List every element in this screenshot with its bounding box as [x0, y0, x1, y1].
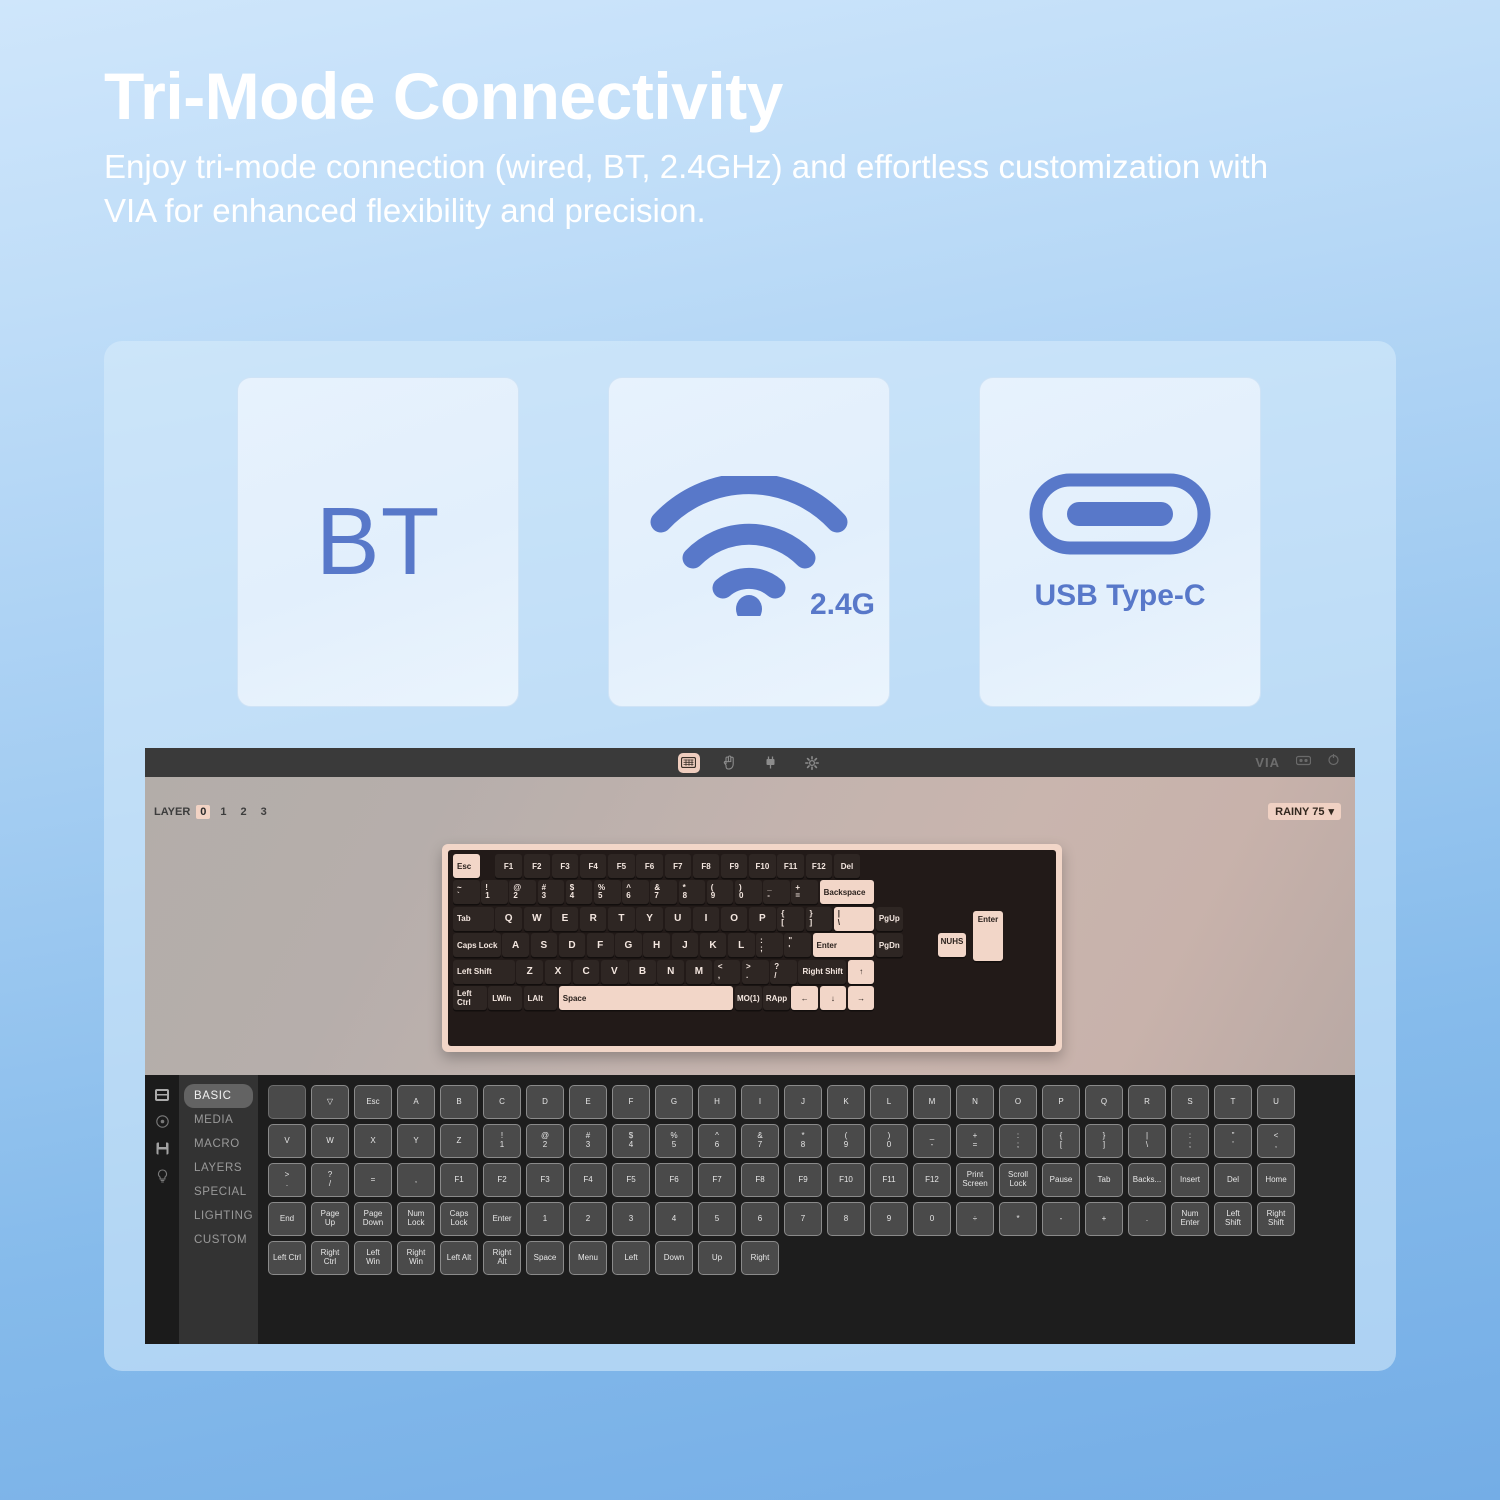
kb-key[interactable]: F12 — [806, 854, 833, 878]
key-picker-key[interactable]: A — [397, 1085, 435, 1119]
key-picker-label-bottom: Lock — [408, 1219, 425, 1228]
kb-key[interactable]: :; — [756, 933, 783, 957]
kb-key[interactable]: S — [531, 933, 558, 957]
kb-key[interactable]: MO(1) — [735, 986, 762, 1010]
key-picker-key[interactable]: O — [999, 1085, 1037, 1119]
kb-key[interactable]: PgDn — [876, 933, 903, 957]
key-picker-key[interactable]: (9 — [827, 1124, 865, 1158]
kb-key[interactable]: %5 — [594, 880, 621, 904]
kb-key[interactable]: L — [728, 933, 755, 957]
kb-key-label: ← — [801, 994, 809, 1003]
hand-icon[interactable] — [719, 753, 741, 773]
key-picker-key[interactable]: F2 — [483, 1163, 521, 1197]
key-picker-label-top: Down — [664, 1254, 684, 1263]
kb-key[interactable]: → — [848, 986, 875, 1010]
key-picker-label-top: 6 — [758, 1215, 762, 1224]
kb-key[interactable]: H — [643, 933, 670, 957]
key-picker-label-bottom: 2 — [543, 1141, 547, 1150]
key-picker-key[interactable]: !1 — [483, 1124, 521, 1158]
via-topbar-tabs — [678, 753, 823, 773]
key-picker-label-top: F6 — [669, 1176, 678, 1185]
key-picker-key[interactable]: Q — [1085, 1085, 1123, 1119]
key-picker-key[interactable]: - — [1042, 1202, 1080, 1236]
kb-key-base: \ — [838, 919, 840, 927]
key-picker-key[interactable]: F4 — [569, 1163, 607, 1197]
key-picker-key[interactable]: F — [612, 1085, 650, 1119]
key-picker-label-bottom: ] — [1103, 1141, 1105, 1150]
key-picker-key[interactable]: H — [698, 1085, 736, 1119]
kb-key[interactable]: *8 — [679, 880, 706, 904]
keyboard-icon[interactable] — [678, 753, 700, 773]
key-picker-key[interactable]: End — [268, 1202, 306, 1236]
key-picker-key[interactable]: RightAlt — [483, 1241, 521, 1275]
kb-key[interactable]: LWin — [488, 986, 522, 1010]
kb-key[interactable]: F2 — [524, 854, 551, 878]
kb-key[interactable]: N — [657, 960, 684, 984]
key-picker-key[interactable]: 9 — [870, 1202, 908, 1236]
key-picker-label-top: 1 — [543, 1215, 547, 1224]
via-brand-label: VIA — [1255, 755, 1280, 770]
kb-key-label: F1 — [504, 862, 513, 871]
key-picker-label-top: ▽ — [327, 1098, 333, 1107]
key-picker-key[interactable]: + — [1085, 1202, 1123, 1236]
key-picker-key[interactable]: K — [827, 1085, 865, 1119]
key-picker-key[interactable]: D — [526, 1085, 564, 1119]
kb-key-label: Y — [646, 913, 653, 924]
key-picker-key[interactable]: PageDown — [354, 1202, 392, 1236]
refresh-icon[interactable] — [1327, 753, 1340, 772]
kb-key[interactable]: V — [601, 960, 628, 984]
key-picker-label-top: 0 — [930, 1215, 934, 1224]
key-picker-key[interactable]: I — [741, 1085, 779, 1119]
key-picker-label-top: , — [415, 1176, 417, 1185]
key-picker-key[interactable]: ▽ — [311, 1085, 349, 1119]
key-picker-key[interactable]: }] — [1085, 1124, 1123, 1158]
key-picker-key[interactable]: S — [1171, 1085, 1209, 1119]
kb-key[interactable]: |\ — [834, 907, 875, 931]
key-picker-key[interactable]: #3 — [569, 1124, 607, 1158]
key-picker-key[interactable]: L — [870, 1085, 908, 1119]
nuhs-key[interactable]: NUHS — [938, 933, 966, 957]
kb-key-label: Space — [563, 994, 587, 1003]
kb-key[interactable]: F10 — [749, 854, 776, 878]
key-picker-key[interactable]: Pause — [1042, 1163, 1080, 1197]
via-topbar-right: VIA — [1255, 753, 1340, 772]
kb-key[interactable]: W — [524, 907, 551, 931]
kb-key-label: L — [738, 940, 744, 951]
key-picker-key[interactable]: 5 — [698, 1202, 736, 1236]
key-picker-label-top: F5 — [626, 1176, 635, 1185]
key-picker-key[interactable]: %5 — [655, 1124, 693, 1158]
key-picker-key[interactable]: RightWin — [397, 1241, 435, 1275]
kb-key-label: LWin — [492, 994, 511, 1003]
usb-c-label: USB Type-C — [1034, 579, 1205, 613]
key-picker-key[interactable]: @2 — [526, 1124, 564, 1158]
keyboard-name-label: RAINY 75 — [1275, 806, 1324, 818]
key-picker-key[interactable]: ÷ — [956, 1202, 994, 1236]
kb-key[interactable]: D — [559, 933, 586, 957]
brightness-icon[interactable] — [1296, 754, 1311, 772]
key-picker-label-top: G — [671, 1098, 677, 1107]
key-picker-key[interactable]: 0 — [913, 1202, 951, 1236]
header-block: Tri-Mode Connectivity Enjoy tri-mode con… — [104, 62, 1404, 233]
key-picker-label-top: + — [1102, 1215, 1107, 1224]
kb-key-label: Caps Lock — [457, 941, 497, 950]
key-picker-key[interactable]: Home — [1257, 1163, 1295, 1197]
key-picker-key[interactable]: :; — [1171, 1124, 1209, 1158]
keymap-icon[interactable] — [155, 1087, 170, 1102]
keyboard-select[interactable]: RAINY 75 ▾ — [1268, 803, 1341, 820]
key-picker-key[interactable]: N — [956, 1085, 994, 1119]
key-picker-label-top: Esc — [366, 1098, 379, 1107]
kb-key-base: - — [767, 892, 770, 900]
kb-key[interactable]: #3 — [538, 880, 565, 904]
key-picker-label-top: F12 — [925, 1176, 939, 1185]
kb-key-label: F2 — [532, 862, 541, 871]
key-picker-label-top: . — [1146, 1215, 1148, 1224]
key-picker-key[interactable]: Enter — [483, 1202, 521, 1236]
key-picker-key[interactable]: F8 — [741, 1163, 779, 1197]
kb-key[interactable]: B — [629, 960, 656, 984]
key-picker-key[interactable]: 2 — [569, 1202, 607, 1236]
layer-selector[interactable]: LAYER 0 1 2 3 — [154, 805, 271, 819]
key-picker-panel: BASIC MEDIA MACRO LAYERS SPECIAL LIGHTIN… — [145, 1075, 1355, 1344]
key-picker-key[interactable]: <, — [1257, 1124, 1295, 1158]
kb-key[interactable]: PgUp — [876, 907, 903, 931]
category-basic[interactable]: BASIC — [184, 1084, 253, 1108]
key-picker-key[interactable]: += — [956, 1124, 994, 1158]
kb-key-label: A — [512, 940, 519, 951]
kb-key[interactable]: )0 — [735, 880, 762, 904]
key-picker-key[interactable]: X — [354, 1124, 392, 1158]
key-picker-key[interactable]: F6 — [655, 1163, 693, 1197]
key-picker-key[interactable]: CapsLock — [440, 1202, 478, 1236]
kb-key[interactable]: K — [700, 933, 727, 957]
key-picker-key[interactable]: Left Ctrl — [268, 1241, 306, 1275]
kb-key-label: I — [705, 913, 708, 924]
layer-option-2[interactable]: 2 — [237, 805, 251, 819]
key-picker-label-top: 7 — [801, 1215, 805, 1224]
key-picker-key[interactable]: ScrollLock — [999, 1163, 1037, 1197]
key-picker-label-top: F1 — [454, 1176, 463, 1185]
key-picker-key[interactable]: 4 — [655, 1202, 693, 1236]
key-picker-key[interactable]: Left Alt — [440, 1241, 478, 1275]
key-picker-label-bottom: 7 — [758, 1141, 762, 1150]
key-picker-key[interactable]: Left — [612, 1241, 650, 1275]
key-picker-key[interactable]: Insert — [1171, 1163, 1209, 1197]
kb-key[interactable]: "' — [784, 933, 811, 957]
key-picker-label-bottom: / — [329, 1180, 331, 1189]
kb-key-base: / — [774, 972, 776, 980]
key-picker-key[interactable]: )0 — [870, 1124, 908, 1158]
kb-key[interactable]: M — [686, 960, 713, 984]
kb-key[interactable]: Tab — [453, 907, 494, 931]
via-app-window: VIA LAYER 0 1 2 3 RAINY 75 ▾ — [145, 748, 1355, 1344]
kb-key[interactable]: T — [608, 907, 635, 931]
key-picker-key[interactable]: P — [1042, 1085, 1080, 1119]
gear-icon[interactable] — [801, 753, 823, 773]
kb-key[interactable]: >. — [742, 960, 769, 984]
save-icon[interactable] — [155, 1141, 170, 1156]
key-picker-label-top: Right — [751, 1254, 770, 1263]
key-picker-key[interactable]: RightShift — [1257, 1202, 1295, 1236]
kb-key[interactable]: &7 — [650, 880, 677, 904]
key-picker-key[interactable]: F1 — [440, 1163, 478, 1197]
key-picker-label-top: O — [1015, 1098, 1021, 1107]
kb-key[interactable]: E — [552, 907, 579, 931]
key-picker-key[interactable]: Right — [741, 1241, 779, 1275]
key-picker-key[interactable]: Esc — [354, 1085, 392, 1119]
key-picker-key[interactable]: 3 — [612, 1202, 650, 1236]
via-rail — [145, 1075, 179, 1344]
category-macro[interactable]: MACRO — [184, 1132, 253, 1156]
key-picker-key[interactable]: Space — [526, 1241, 564, 1275]
kb-key[interactable]: }] — [806, 907, 833, 931]
kb-key[interactable]: ← — [791, 986, 818, 1010]
kb-key-label: B — [639, 966, 646, 977]
key-picker-key[interactable]: R — [1128, 1085, 1166, 1119]
key-picker-key[interactable]: * — [999, 1202, 1037, 1236]
kb-key[interactable]: (9 — [707, 880, 734, 904]
key-picker-key[interactable]: RightCtrl — [311, 1241, 349, 1275]
key-picker-key[interactable]: Del — [1214, 1163, 1252, 1197]
key-picker-label-bottom: Up — [325, 1219, 335, 1228]
kb-key-label: Left Ctrl — [457, 989, 487, 1007]
kb-key-label: Left Shift — [457, 967, 492, 976]
key-picker-key[interactable]: NumLock — [397, 1202, 435, 1236]
kb-key-label: Tab — [457, 914, 471, 923]
key-picker-key[interactable]: F10 — [827, 1163, 865, 1197]
kb-key[interactable]: Left Ctrl — [453, 986, 487, 1010]
kb-key-label: Enter — [817, 941, 837, 950]
kb-key[interactable]: Left Shift — [453, 960, 515, 984]
key-picker-key[interactable]: 8 — [827, 1202, 865, 1236]
kb-key[interactable]: ?/ — [770, 960, 797, 984]
feature-cards: BT 2.4G USB Type-C — [237, 377, 1262, 707]
key-picker-key[interactable]: F11 — [870, 1163, 908, 1197]
key-picker-key[interactable] — [268, 1085, 306, 1119]
key-picker-key[interactable]: Backs... — [1128, 1163, 1166, 1197]
key-picker-key[interactable]: Y — [397, 1124, 435, 1158]
kb-key[interactable]: Backspace — [820, 880, 875, 904]
kb-key[interactable]: I — [693, 907, 720, 931]
kb-key[interactable]: Z — [516, 960, 543, 984]
key-picker-label-bottom: 6 — [715, 1141, 719, 1150]
kb-key[interactable]: Del — [834, 854, 861, 878]
key-picker-label-top: End — [280, 1215, 294, 1224]
kb-key[interactable]: F7 — [665, 854, 692, 878]
kb-key-base: , — [718, 972, 720, 980]
kb-key[interactable]: O — [721, 907, 748, 931]
key-picker-label-top: H — [714, 1098, 720, 1107]
key-picker-key[interactable]: 1 — [526, 1202, 564, 1236]
key-picker-label-bottom: Ctrl — [324, 1258, 336, 1267]
kb-key[interactable]: $4 — [566, 880, 593, 904]
key-picker-label-bottom: Screen — [962, 1180, 987, 1189]
key-picker-key[interactable]: G — [655, 1085, 693, 1119]
kb-key[interactable]: _- — [763, 880, 790, 904]
category-custom[interactable]: CUSTOM — [184, 1228, 253, 1252]
category-special[interactable]: SPECIAL — [184, 1180, 253, 1204]
via-keyboard-stage: LAYER 0 1 2 3 RAINY 75 ▾ EscF1F2F3F4F5F6… — [145, 777, 1355, 1075]
kb-key[interactable]: += — [791, 880, 818, 904]
layer-option-3[interactable]: 3 — [257, 805, 271, 819]
layer-option-0[interactable]: 0 — [196, 805, 210, 819]
kb-key[interactable]: F3 — [552, 854, 579, 878]
key-picker-key[interactable]: _- — [913, 1124, 951, 1158]
kb-key[interactable]: F6 — [636, 854, 663, 878]
key-picker-key[interactable]: Z — [440, 1124, 478, 1158]
key-picker-key[interactable]: , — [397, 1163, 435, 1197]
kb-key-base: 5 — [598, 892, 602, 900]
key-picker-key[interactable]: Up — [698, 1241, 736, 1275]
key-picker-label-top: X — [370, 1137, 375, 1146]
key-picker-label-bottom: ; — [1017, 1141, 1019, 1150]
key-picker-key[interactable]: 6 — [741, 1202, 779, 1236]
kb-key[interactable]: Space — [559, 986, 734, 1010]
kb-key-label: C — [583, 966, 590, 977]
key-picker-key[interactable]: Menu — [569, 1241, 607, 1275]
key-picker-key[interactable]: &7 — [741, 1124, 779, 1158]
key-picker-key[interactable]: Down — [655, 1241, 693, 1275]
key-picker-label-top: - — [1060, 1215, 1063, 1224]
kb-key[interactable]: !1 — [481, 880, 508, 904]
iso-enter-key[interactable]: Enter — [973, 911, 1003, 961]
category-layers[interactable]: LAYERS — [184, 1156, 253, 1180]
plug-icon[interactable] — [760, 753, 782, 773]
key-picker-key[interactable]: F5 — [612, 1163, 650, 1197]
kb-key-base: ; — [760, 945, 763, 953]
kb-key-base: 3 — [542, 892, 546, 900]
key-picker-label-top: F2 — [497, 1176, 506, 1185]
key-picker-key[interactable]: |\ — [1128, 1124, 1166, 1158]
kb-key[interactable]: LAlt — [524, 986, 558, 1010]
key-picker-key[interactable]: :; — [999, 1124, 1037, 1158]
key-picker-key[interactable]: $4 — [612, 1124, 650, 1158]
kb-key[interactable]: Caps Lock — [453, 933, 501, 957]
kb-key[interactable]: F9 — [721, 854, 748, 878]
kb-key-label: K — [709, 940, 716, 951]
kb-key[interactable]: R — [580, 907, 607, 931]
kb-key[interactable]: F — [587, 933, 614, 957]
key-picker-label-bottom: Shift — [1268, 1219, 1284, 1228]
key-picker-key[interactable]: C — [483, 1085, 521, 1119]
key-picker-key[interactable]: ^6 — [698, 1124, 736, 1158]
key-picker-key[interactable]: *8 — [784, 1124, 822, 1158]
key-picker-key[interactable]: J — [784, 1085, 822, 1119]
key-picker-key[interactable]: U — [1257, 1085, 1295, 1119]
kb-key[interactable]: ↑ — [848, 960, 875, 984]
key-picker-key[interactable]: . — [1128, 1202, 1166, 1236]
key-picker-key[interactable]: B — [440, 1085, 478, 1119]
key-picker-key[interactable]: W — [311, 1124, 349, 1158]
layer-option-1[interactable]: 1 — [216, 805, 230, 819]
kb-key[interactable]: A — [502, 933, 529, 957]
kb-key[interactable]: Y — [636, 907, 663, 931]
kb-key[interactable]: J — [672, 933, 699, 957]
key-picker-label-top: B — [456, 1098, 461, 1107]
kb-key[interactable]: F11 — [777, 854, 804, 878]
kb-key[interactable]: {[ — [777, 907, 804, 931]
kb-key[interactable]: Esc — [453, 854, 480, 878]
record-icon[interactable] — [155, 1114, 170, 1129]
key-picker-key[interactable]: PageUp — [311, 1202, 349, 1236]
key-picker-label-top: F10 — [839, 1176, 853, 1185]
kb-key[interactable]: F4 — [580, 854, 607, 878]
key-picker-label-bottom: Alt — [497, 1258, 506, 1267]
kb-key[interactable]: ↓ — [820, 986, 847, 1010]
key-picker-key[interactable]: LeftShift — [1214, 1202, 1252, 1236]
key-picker-key[interactable]: NumEnter — [1171, 1202, 1209, 1236]
key-picker-key[interactable]: E — [569, 1085, 607, 1119]
key-picker-key[interactable]: T — [1214, 1085, 1252, 1119]
key-picker-label-bottom: Lock — [451, 1219, 468, 1228]
kb-key[interactable]: @2 — [509, 880, 536, 904]
kb-key[interactable]: ^6 — [622, 880, 649, 904]
key-picker-key[interactable]: LeftWin — [354, 1241, 392, 1275]
key-picker-label-top: Insert — [1180, 1176, 1200, 1185]
kb-key[interactable]: Enter — [813, 933, 875, 957]
kb-key[interactable]: P — [749, 907, 776, 931]
kb-key[interactable]: Q — [495, 907, 522, 931]
kb-key[interactable]: ~` — [453, 880, 480, 904]
key-picker-key[interactable]: PrintScreen — [956, 1163, 994, 1197]
physical-keyboard: EscF1F2F3F4F5F6F7F8F9F10F11F12Del~`!1@2#… — [442, 844, 1062, 1052]
kb-key-label: F5 — [617, 862, 626, 871]
key-picker-key[interactable]: {[ — [1042, 1124, 1080, 1158]
category-lighting[interactable]: LIGHTING — [184, 1204, 253, 1228]
key-picker-label-top: Enter — [492, 1215, 511, 1224]
kb-key[interactable]: G — [615, 933, 642, 957]
key-picker-label-top: Q — [1101, 1098, 1107, 1107]
kb-key[interactable]: U — [665, 907, 692, 931]
kb-key-label: NUHS — [941, 937, 964, 946]
key-picker-key[interactable]: "' — [1214, 1124, 1252, 1158]
kb-key[interactable]: C — [573, 960, 600, 984]
kb-key[interactable]: F1 — [495, 854, 522, 878]
key-picker-key[interactable]: M — [913, 1085, 951, 1119]
key-picker-label-bottom: , — [1275, 1141, 1277, 1150]
key-picker-label-top: F9 — [798, 1176, 807, 1185]
kb-key-base: 6 — [626, 892, 630, 900]
key-picker-label-top: T — [1231, 1098, 1236, 1107]
key-picker-grid: ▽EscABCDEFGHIJKLMNOPQRSTUVWXYZ!1@2#3$4%5… — [258, 1075, 1355, 1344]
key-picker-key[interactable]: Tab — [1085, 1163, 1123, 1197]
key-picker-key[interactable]: ?/ — [311, 1163, 349, 1197]
key-picker-key[interactable]: F12 — [913, 1163, 951, 1197]
category-media[interactable]: MEDIA — [184, 1108, 253, 1132]
kb-key-label: Q — [505, 913, 513, 924]
kb-key[interactable]: X — [545, 960, 572, 984]
kb-key[interactable]: F5 — [608, 854, 635, 878]
key-picker-key[interactable]: = — [354, 1163, 392, 1197]
key-picker-key[interactable]: F9 — [784, 1163, 822, 1197]
kb-key[interactable]: Right Shift — [798, 960, 846, 984]
key-picker-label-bottom: 0 — [887, 1141, 891, 1150]
key-picker-label-top: 4 — [672, 1215, 676, 1224]
lightbulb-icon[interactable] — [155, 1168, 170, 1183]
key-picker-label-bottom: 3 — [586, 1141, 590, 1150]
kb-key[interactable]: RApp — [763, 986, 790, 1010]
key-picker-key[interactable]: 7 — [784, 1202, 822, 1236]
kb-key[interactable]: <, — [714, 960, 741, 984]
key-picker-key[interactable]: F7 — [698, 1163, 736, 1197]
key-picker-label-top: Up — [712, 1254, 722, 1263]
key-picker-key[interactable]: F3 — [526, 1163, 564, 1197]
kb-key[interactable]: F8 — [693, 854, 720, 878]
key-picker-key[interactable]: >. — [268, 1163, 306, 1197]
key-picker-key[interactable]: V — [268, 1124, 306, 1158]
